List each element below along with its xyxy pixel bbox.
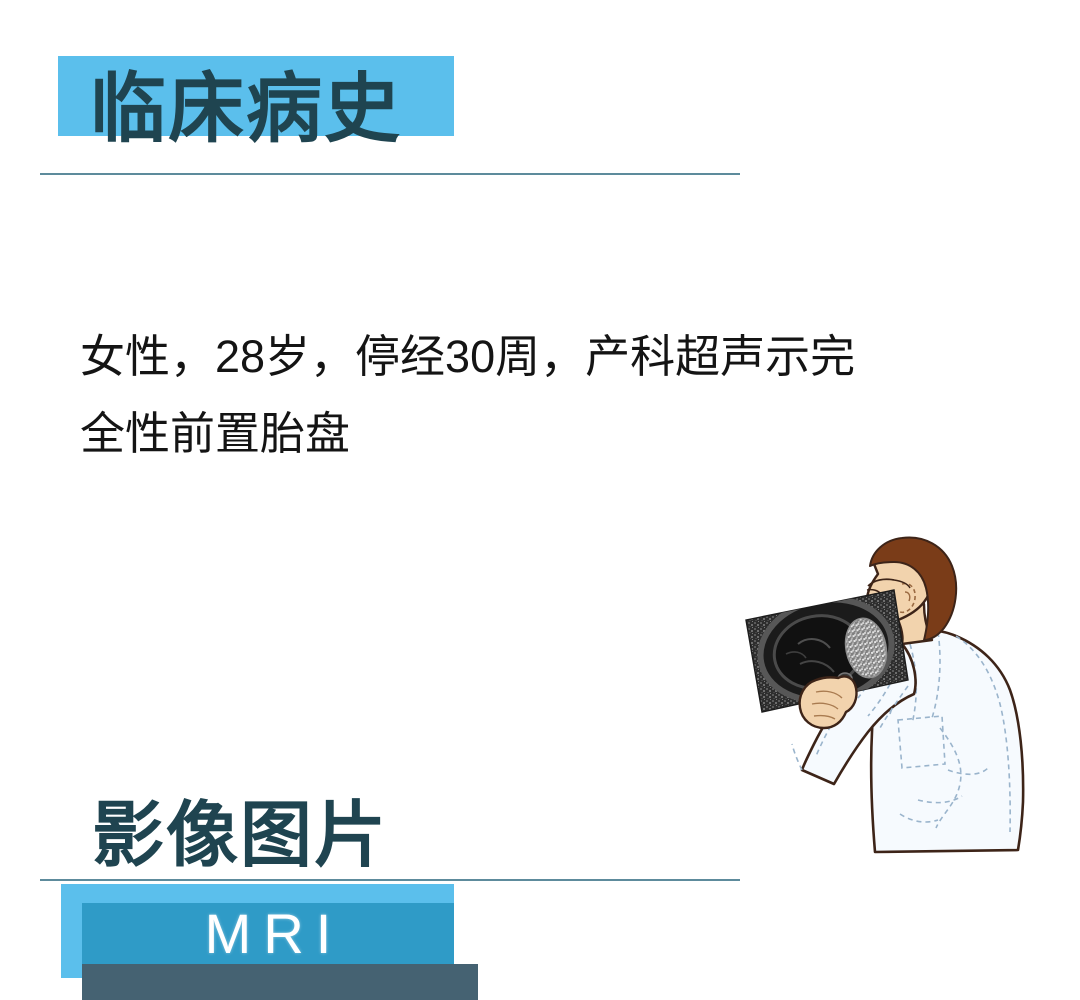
clinical-history-heading: 临床病史 bbox=[90, 72, 402, 148]
imaging-divider bbox=[40, 879, 740, 881]
clinical-history-divider bbox=[40, 173, 740, 175]
clinical-history-body: 女性，28岁，停经30周，产科超声示完 全性前置胎盘 bbox=[80, 318, 1010, 473]
clinical-history-body-line-2: 全性前置胎盘 bbox=[80, 395, 1010, 472]
clinical-history-body-line-1: 女性，28岁，停经30周，产科超声示完 bbox=[80, 318, 1010, 395]
mri-modality-label: MRI bbox=[82, 903, 454, 964]
mri-banner-shadow-layer bbox=[82, 964, 478, 1000]
imaging-heading: 影像图片 bbox=[92, 800, 388, 872]
doctor-reading-mri-film-illustration bbox=[742, 532, 1042, 860]
